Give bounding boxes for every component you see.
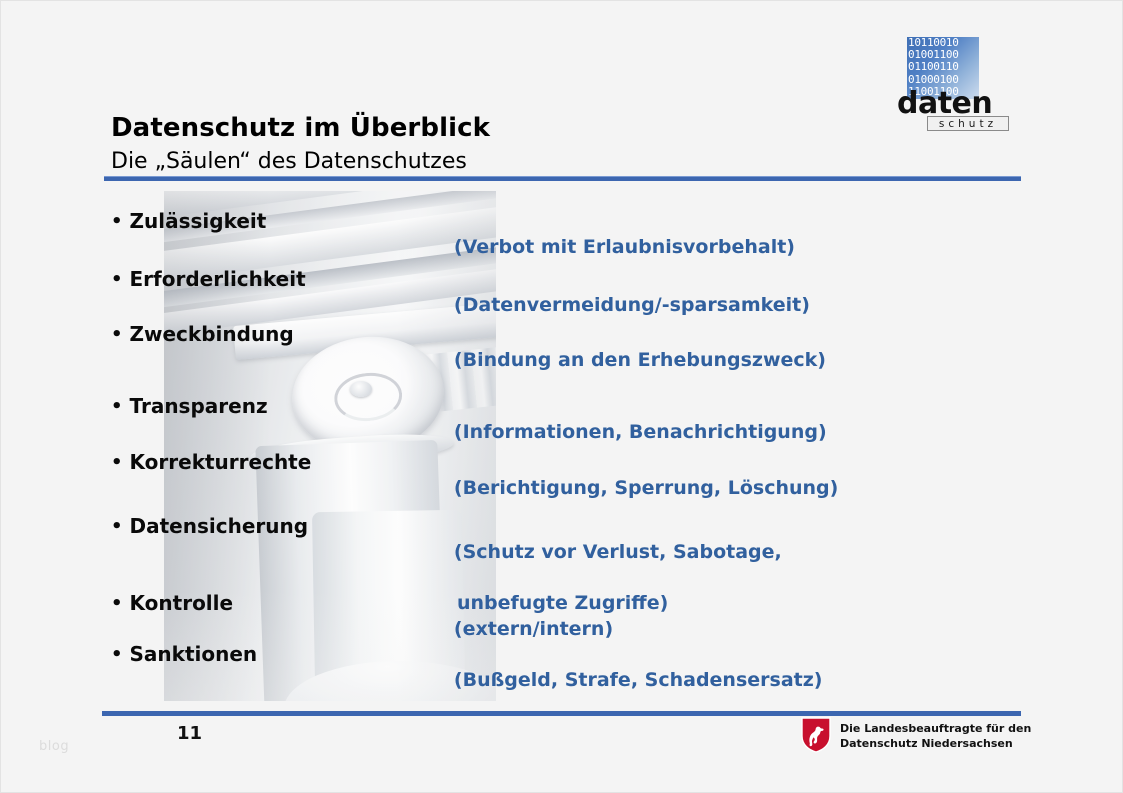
bullet-icon: • — [111, 454, 123, 472]
pillar-term-label: Datensicherung — [130, 514, 309, 538]
pillar-term: •Zulässigkeit — [111, 209, 401, 233]
pillar-description-line1: (Informationen, Benachrichtigung) — [454, 421, 827, 443]
slide: 10110010 01001100 01100110 01000100 1100… — [0, 0, 1123, 793]
pillar-term: •Erforderlichkeit — [111, 267, 401, 291]
pillar-term-label: Erforderlichkeit — [130, 267, 306, 291]
pillar-term: •Transparenz — [111, 394, 401, 418]
bullet-icon: • — [111, 595, 123, 613]
bullet-icon: • — [111, 326, 123, 344]
pillar-description: (Bindung an den Erhebungszweck) — [401, 322, 826, 399]
pillar-term-label: Zweckbindung — [130, 322, 294, 346]
organisation-name: Die Landesbeauftragte für den Datenschut… — [840, 722, 1031, 752]
pillar-description-line1: (Bindung an den Erhebungszweck) — [454, 349, 826, 371]
organisation-name-line2: Datenschutz Niedersachsen — [840, 737, 1013, 750]
pillar-term: •Korrekturrechte — [111, 450, 401, 474]
pillar-description-line1: (Datenvermeidung/-sparsamkeit) — [454, 294, 810, 316]
pillar-description-line1: (extern/intern) — [454, 618, 613, 640]
pillar-description: (Bußgeld, Strafe, Schadensersatz) — [401, 642, 822, 719]
pillars-list: •Zulässigkeit (Verbot mit Erlaubnisvorbe… — [1, 1, 1123, 793]
organisation-footer: Die Landesbeauftragte für den Datenschut… — [801, 717, 1031, 757]
pillar-term-label: Transparenz — [130, 394, 268, 418]
bullet-icon: • — [111, 398, 123, 416]
blog-watermark: blog — [39, 739, 69, 754]
list-item: •Zweckbindung (Bindung an den Erhebungsz… — [111, 322, 1011, 399]
footer-divider — [102, 711, 1021, 716]
pillar-term-label: Zulässigkeit — [130, 209, 267, 233]
bullet-icon: • — [111, 271, 123, 289]
pillar-term: •Kontrolle — [111, 591, 401, 615]
pillar-term-label: Kontrolle — [130, 591, 234, 615]
pillar-description-line1: (Schutz vor Verlust, Sabotage, — [454, 541, 782, 563]
pillar-term: •Datensicherung — [111, 514, 401, 538]
list-item: •Sanktionen (Bußgeld, Strafe, Schadenser… — [111, 642, 1011, 719]
pillar-term-label: Korrekturrechte — [130, 450, 312, 474]
pillar-description-line1: (Berichtigung, Sperrung, Löschung) — [454, 477, 838, 499]
bullet-icon: • — [111, 518, 123, 536]
bullet-icon: • — [111, 646, 123, 664]
page-number: 11 — [177, 723, 202, 744]
pillar-term: •Sanktionen — [111, 642, 401, 666]
pillar-term-label: Sanktionen — [130, 642, 258, 666]
bullet-icon: • — [111, 213, 123, 231]
organisation-name-line1: Die Landesbeauftragte für den — [840, 722, 1031, 735]
pillar-description-line1: (Verbot mit Erlaubnisvorbehalt) — [454, 236, 795, 258]
lower-saxony-crest-icon — [801, 717, 831, 757]
pillar-description-line1: (Bußgeld, Strafe, Schadensersatz) — [454, 669, 823, 691]
pillar-term: •Zweckbindung — [111, 322, 401, 346]
